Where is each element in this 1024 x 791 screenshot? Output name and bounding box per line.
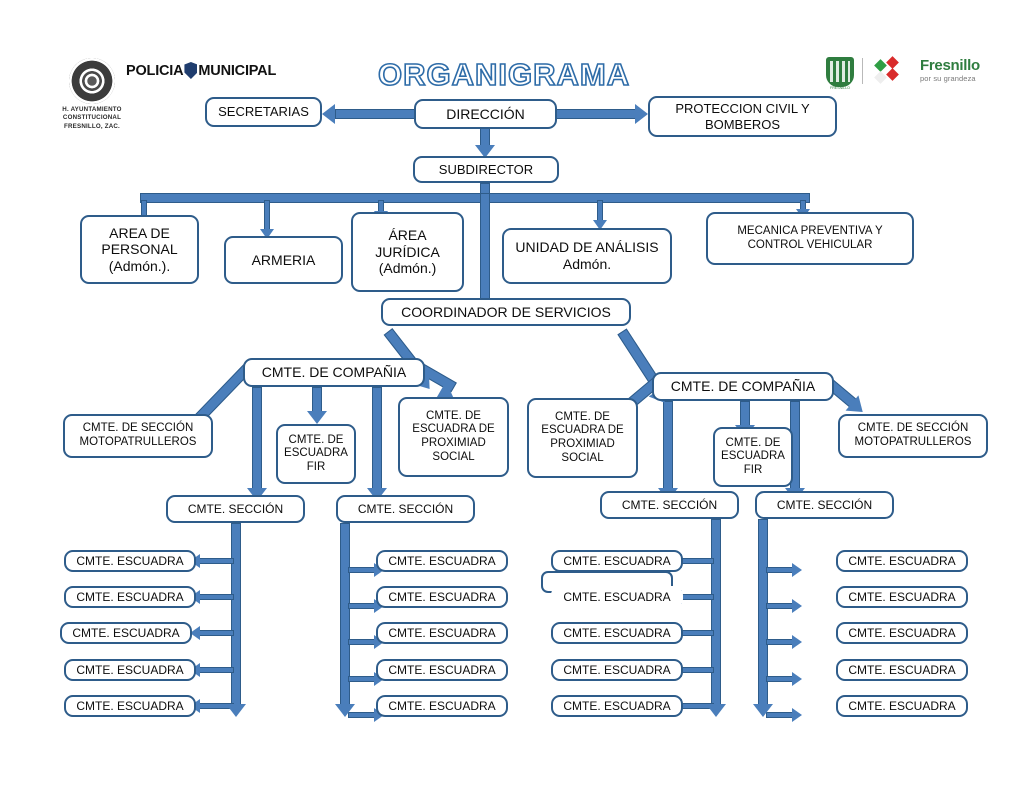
node-escuadra-2-1[interactable]: CMTE. ESCUADRA [376, 550, 508, 572]
node-cmte-compania-left[interactable]: CMTE. DE COMPAÑIA [243, 358, 425, 387]
fresnillo-diamond-2 [886, 56, 899, 69]
fresnillo-diamond-1 [874, 59, 887, 72]
node-direccion[interactable]: DIRECCIÓN [414, 99, 557, 129]
connector-direccion-secretarias [335, 109, 415, 119]
arrowhead-spine-3 [706, 704, 726, 717]
stub-3-1 [680, 558, 714, 564]
fresnillo-crest-icon [826, 57, 854, 87]
municipal-text: MUNICIPAL [198, 63, 276, 79]
drop-armeria [264, 200, 270, 232]
arrowhead-4-1 [792, 563, 802, 577]
node-escuadra-2-2[interactable]: CMTE. ESCUADRA [376, 586, 508, 608]
node-escuadra-3-3[interactable]: CMTE. ESCUADRA [551, 622, 683, 644]
fresnillo-brand-name: Fresnillo [920, 57, 980, 74]
arrowhead-4-4 [792, 672, 802, 686]
node-escuadra-4-4[interactable]: CMTE. ESCUADRA [836, 659, 968, 681]
node-cmte-seccion-motopatrulleros-right[interactable]: CMTE. DE SECCIÓN MOTOPATRULLEROS [838, 414, 988, 458]
arrowhead-spine-1 [226, 704, 246, 717]
coat-of-arms-icon [69, 58, 115, 104]
arrowhead-spine-4 [753, 704, 773, 717]
node-escuadra-3-5[interactable]: CMTE. ESCUADRA [551, 695, 683, 717]
fresnillo-diamond-3 [874, 71, 887, 84]
arrowhead-fir-left [307, 411, 327, 424]
node-secretarias[interactable]: SECRETARIAS [205, 97, 322, 127]
police-shield-icon [184, 62, 197, 79]
node-cmte-escuadra-fir-right[interactable]: CMTE. DE ESCUADRA FIR [713, 427, 793, 487]
node-escuadra-1-1[interactable]: CMTE. ESCUADRA [64, 550, 196, 572]
seal-caption-line-1: H. AYUNTAMIENTO [52, 106, 132, 114]
node-escuadra-3-4[interactable]: CMTE. ESCUADRA [551, 659, 683, 681]
node-proteccion-civil-bomberos[interactable]: PROTECCION CIVIL Y BOMBEROS [648, 96, 837, 137]
node-area-juridica[interactable]: ÁREA JURÍDICA (Admón.) [351, 212, 464, 292]
node-escuadra-4-1[interactable]: CMTE. ESCUADRA [836, 550, 968, 572]
bus-tier2 [140, 193, 810, 203]
node-cmte-seccion-3[interactable]: CMTE. SECCIÓN [600, 491, 739, 519]
logo-divider [862, 58, 863, 84]
node-escuadra-2-4[interactable]: CMTE. ESCUADRA [376, 659, 508, 681]
node-escuadra-1-3[interactable]: CMTE. ESCUADRA [60, 622, 192, 644]
node-coordinador-servicios[interactable]: COORDINADOR DE SERVICIOS [381, 298, 631, 326]
stub-4-3 [766, 639, 794, 645]
node-escuadra-3-1[interactable]: CMTE. ESCUADRA [551, 550, 683, 572]
node-escuadra-1-4[interactable]: CMTE. ESCUADRA [64, 659, 196, 681]
stub-3-2 [680, 594, 714, 600]
node-mecanica-preventiva[interactable]: MECANICA PREVENTIVA Y CONTROL VEHICULAR [706, 212, 914, 265]
node-escuadra-3-2[interactable]: CMTE. ESCUADRA [551, 586, 683, 608]
seal-caption-line-3: FRESNILLO, ZAC. [52, 123, 132, 131]
arrowhead-spine-2 [335, 704, 355, 717]
spine-seccion-3 [711, 519, 721, 708]
node-cmte-compania-right[interactable]: CMTE. DE COMPAÑIA [652, 372, 834, 401]
node-cmte-seccion-4[interactable]: CMTE. SECCIÓN [755, 491, 894, 519]
node-escuadra-4-3[interactable]: CMTE. ESCUADRA [836, 622, 968, 644]
fresnillo-tagline: por su grandeza [920, 74, 976, 83]
stub-2-2 [348, 603, 376, 609]
node-escuadra-1-2[interactable]: CMTE. ESCUADRA [64, 586, 196, 608]
arrowhead-secretarias [322, 104, 335, 124]
node-cmte-escuadra-fir-left[interactable]: CMTE. DE ESCUADRA FIR [276, 424, 356, 484]
stub-1-2 [198, 594, 234, 600]
connector-compania-right-fir [740, 401, 750, 428]
node-armeria[interactable]: ARMERIA [224, 236, 343, 284]
node-cmte-escuadra-proximidad-left[interactable]: CMTE. DE ESCUADRA DE PROXIMIAD SOCIAL [398, 397, 509, 477]
stub-3-4 [680, 667, 714, 673]
stub-2-3 [348, 639, 376, 645]
connector-compania-left-fir [312, 387, 322, 414]
node-escuadra-4-5[interactable]: CMTE. ESCUADRA [836, 695, 968, 717]
node-area-personal[interactable]: AREA DE PERSONAL (Admón.). [80, 215, 199, 284]
node-cmte-seccion-2[interactable]: CMTE. SECCIÓN [336, 495, 475, 523]
stub-4-2 [766, 603, 794, 609]
node-escuadra-2-3[interactable]: CMTE. ESCUADRA [376, 622, 508, 644]
connector-direccion-proteccion [556, 109, 636, 119]
node-escuadra-1-5[interactable]: CMTE. ESCUADRA [64, 695, 196, 717]
policia-text: POLICIA [126, 63, 183, 79]
stub-1-1 [198, 558, 234, 564]
connector-compania-right-seccion3 [663, 401, 673, 492]
node-cmte-seccion-1[interactable]: CMTE. SECCIÓN [166, 495, 305, 523]
police-municipal-wordmark: POLICIAMUNICIPAL [126, 62, 276, 79]
arrowhead-4-2 [792, 599, 802, 613]
arrowhead-4-3 [792, 635, 802, 649]
spine-seccion-1 [231, 523, 241, 708]
node-cmte-seccion-motopatrulleros-left[interactable]: CMTE. DE SECCIÓN MOTOPATRULLEROS [63, 414, 213, 458]
connector-bus-coordinador [480, 193, 490, 303]
connector-compania-left-seccion2 [372, 387, 382, 492]
fresnillo-crest-caption: FRESNILLO [825, 86, 855, 90]
organigrama-canvas: H. AYUNTAMIENTO CONSTITUCIONAL FRESNILLO… [0, 0, 1024, 791]
page-title: ORGANIGRAMA [378, 57, 630, 93]
seal-caption-line-2: CONSTITUCIONAL [52, 114, 132, 122]
node-escuadra-4-2[interactable]: CMTE. ESCUADRA [836, 586, 968, 608]
stub-4-4 [766, 676, 794, 682]
stub-2-1 [348, 567, 376, 573]
stub-4-1 [766, 567, 794, 573]
node-subdirector[interactable]: SUBDIRECTOR [413, 156, 559, 183]
fresnillo-diamond-4 [886, 68, 899, 81]
stub-1-3 [198, 630, 234, 636]
stub-2-4 [348, 676, 376, 682]
stub-3-3 [680, 630, 714, 636]
stub-1-4 [198, 667, 234, 673]
node-escuadra-2-5[interactable]: CMTE. ESCUADRA [376, 695, 508, 717]
fresnillo-logo: FRESNILLO Fresnillo por su grandeza [826, 55, 996, 93]
connector-compania-left-seccion1 [252, 387, 262, 492]
municipal-seal: H. AYUNTAMIENTO CONSTITUCIONAL FRESNILLO… [52, 58, 132, 131]
node-cmte-escuadra-proximidad-right[interactable]: CMTE. DE ESCUADRA DE PROXIMIAD SOCIAL [527, 398, 638, 478]
node-unidad-analisis[interactable]: UNIDAD DE ANÁLISIS Admón. [502, 228, 672, 284]
arrowhead-proteccion [635, 104, 648, 124]
arrowhead-4-5 [792, 708, 802, 722]
